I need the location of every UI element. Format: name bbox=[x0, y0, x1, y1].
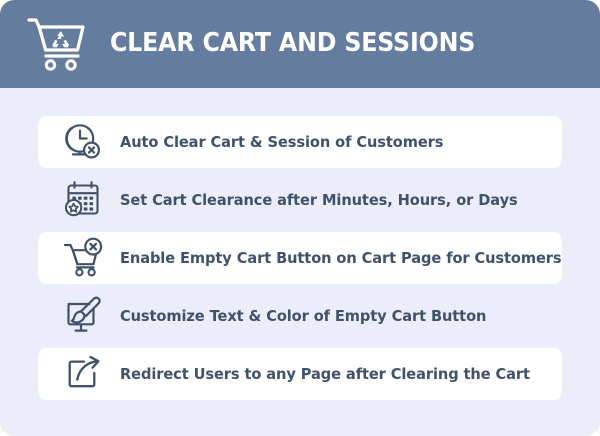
feature-label: Redirect Users to any Page after Clearin… bbox=[120, 366, 530, 383]
monitor-paintbrush-icon bbox=[60, 294, 106, 338]
feature-row[interactable]: Set Cart Clearance after Minutes, Hours,… bbox=[38, 174, 562, 226]
share-arrow-out-icon bbox=[60, 352, 106, 396]
feature-label: Auto Clear Cart & Session of Customers bbox=[120, 134, 443, 151]
feature-row[interactable]: Customize Text & Color of Empty Cart But… bbox=[38, 290, 562, 342]
feature-row[interactable]: Redirect Users to any Page after Clearin… bbox=[38, 348, 562, 400]
cart-remove-icon bbox=[60, 236, 106, 280]
feature-list-infographic: CLEAR CART AND SESSIONS bbox=[0, 0, 600, 436]
feature-row[interactable]: Enable Empty Cart Button on Cart Page fo… bbox=[38, 232, 562, 284]
feature-label: Enable Empty Cart Button on Cart Page fo… bbox=[120, 250, 562, 267]
feature-label: Customize Text & Color of Empty Cart But… bbox=[120, 308, 486, 325]
shopping-cart-recycle-icon bbox=[26, 15, 88, 73]
feature-row[interactable]: Auto Clear Cart & Session of Customers bbox=[38, 116, 562, 168]
feature-label: Set Cart Clearance after Minutes, Hours,… bbox=[120, 192, 518, 209]
header-bar: CLEAR CART AND SESSIONS bbox=[0, 0, 600, 88]
page-title: CLEAR CART AND SESSIONS bbox=[110, 31, 475, 57]
feature-rows: Auto Clear Cart & Session of Customers bbox=[0, 88, 600, 436]
calendar-star-icon bbox=[60, 178, 106, 222]
clock-clear-icon bbox=[60, 120, 106, 164]
